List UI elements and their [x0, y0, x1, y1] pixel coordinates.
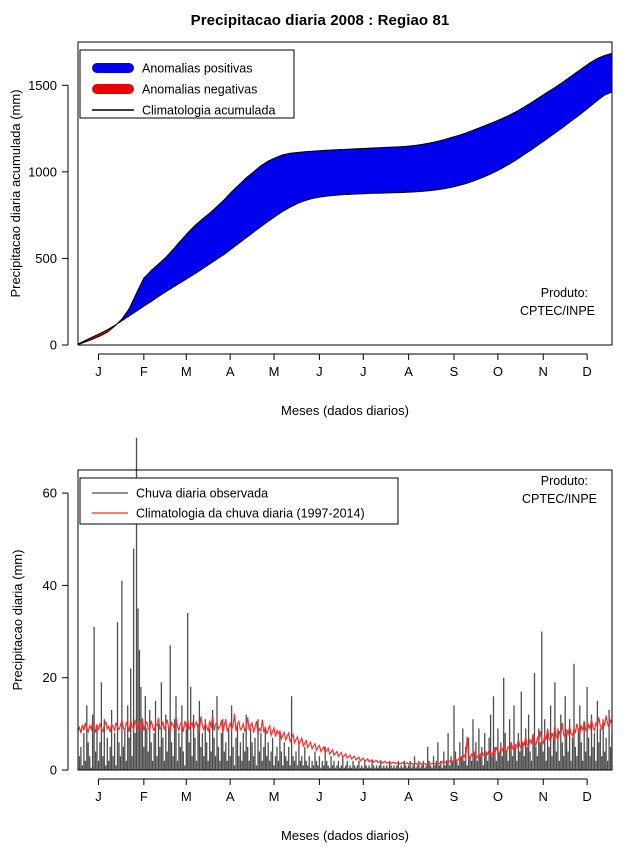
x-tick-label: A [404, 789, 413, 804]
y-tick-label: 40 [43, 578, 57, 593]
legend-label: Anomalias positivas [142, 62, 252, 76]
x-tick-label: N [539, 364, 548, 379]
x-tick-label: M [181, 789, 192, 804]
x-tick-label: M [269, 364, 280, 379]
produto-label-line1: Produto: [541, 286, 588, 300]
x-tick-label: M [181, 364, 192, 379]
x-tick-label: D [582, 364, 591, 379]
y-tick-label: 0 [50, 763, 57, 778]
x-tick-label: S [450, 364, 459, 379]
x-tick-label: J [95, 364, 102, 379]
legend-label: Anomalias negativas [142, 83, 257, 97]
y-tick-label: 1000 [28, 164, 57, 179]
y-tick-label: 60 [43, 486, 57, 501]
x-tick-label: A [404, 364, 413, 379]
legend-label: Climatologia acumulada [142, 104, 275, 118]
legend-label: Climatologia da chuva diaria (1997-2014) [136, 507, 365, 521]
x-tick-label: S [450, 789, 459, 804]
y-tick-label: 0 [50, 338, 57, 353]
x-tick-label: F [140, 789, 148, 804]
daily-precipitation-chart: 0204060Precipitacao diaria (mm)JFMAMJJAS… [0, 430, 640, 850]
x-tick-label: J [95, 789, 102, 804]
legend-label: Chuva diaria observada [136, 487, 268, 501]
accumulated-precipitation-chart: 050010001500Precipitacao diaria acumulad… [0, 0, 640, 430]
y-tick-label: 1500 [28, 78, 57, 93]
produto-label-line2: CPTEC/INPE [522, 492, 597, 506]
produto-label-line2: CPTEC/INPE [520, 304, 595, 318]
x-axis-title: Meses (dados diarios) [281, 828, 409, 843]
y-tick-label: 500 [35, 251, 57, 266]
legend-swatch [92, 63, 134, 73]
legend-swatch [92, 84, 134, 94]
x-tick-label: O [493, 364, 503, 379]
x-tick-label: J [360, 789, 367, 804]
x-tick-label: J [360, 364, 367, 379]
x-tick-label: M [269, 789, 280, 804]
x-tick-label: A [226, 789, 235, 804]
y-axis-title: Precipitacao diaria (mm) [10, 550, 25, 691]
produto-label-line1: Produto: [541, 474, 588, 488]
x-tick-label: N [539, 789, 548, 804]
x-tick-label: J [316, 789, 323, 804]
x-tick-label: J [316, 364, 323, 379]
x-tick-label: D [582, 789, 591, 804]
y-tick-label: 20 [43, 670, 57, 685]
y-axis-title: Precipitacao diaria acumulada (mm) [8, 89, 23, 297]
x-axis-title: Meses (dados diarios) [281, 403, 409, 418]
x-tick-label: A [226, 364, 235, 379]
chart-page: Precipitacao diaria 2008 : Regiao 81 050… [0, 0, 640, 850]
x-tick-label: F [140, 364, 148, 379]
x-tick-label: O [493, 789, 503, 804]
